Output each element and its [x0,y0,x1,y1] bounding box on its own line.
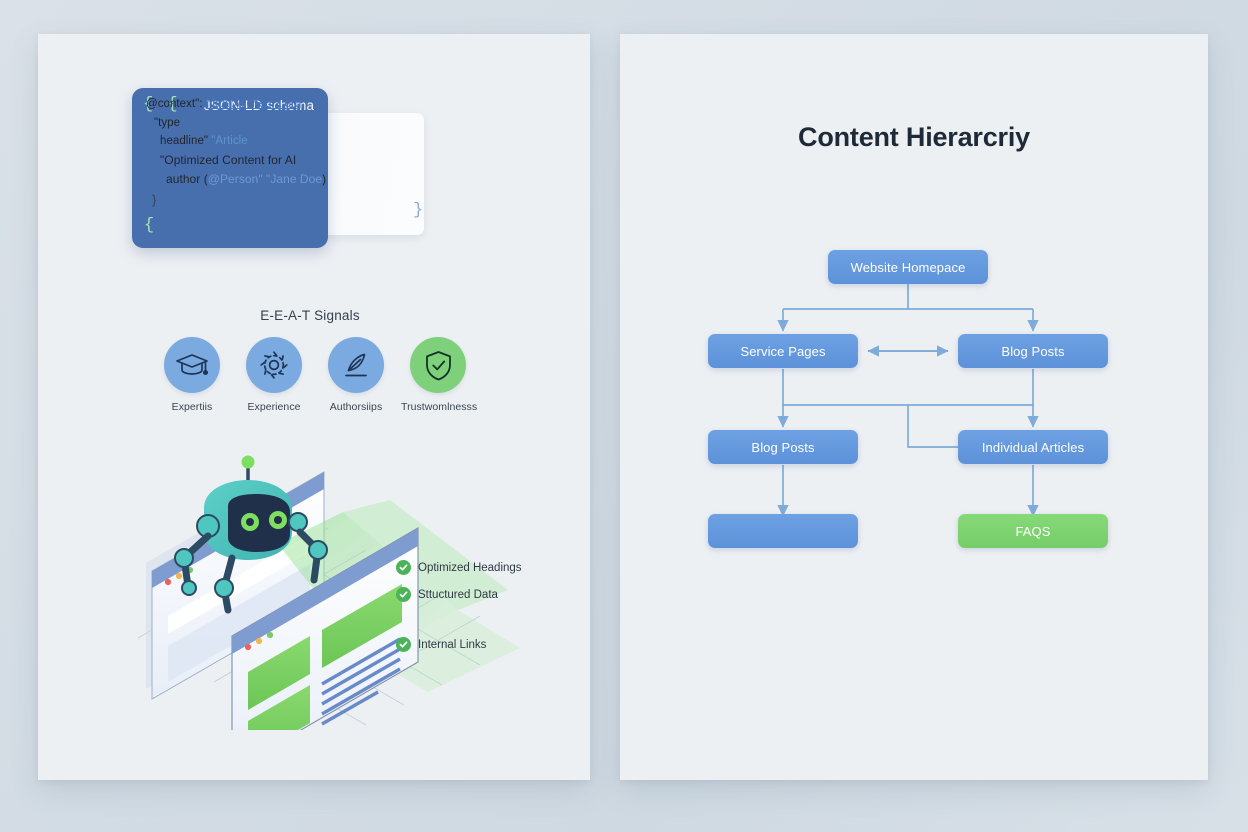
flowchart-connectors [620,34,1208,780]
checklist-label: Optimized Headings [418,562,522,574]
eeat-label-authorship: Authorsiips [319,401,393,413]
flow-node-label: Blog Posts [1001,344,1064,359]
code-line-headline: headline" "Article [160,135,248,147]
flow-node-website-homepage[interactable]: Website Homepace [828,250,988,284]
flow-node-blog-posts-top[interactable]: Blog Posts [958,334,1108,368]
content-hierarchy-flowchart: Website Homepace Service Pages Blog Post… [620,34,1208,780]
code-key-context: @context": [146,98,206,110]
eeat-label-expertise: Expertiis [155,401,229,413]
check-circle-icon [396,560,411,575]
flow-node-label: Service Pages [740,344,825,359]
ai-robot-illustration: Optimized Headings Sttuctured Data Inter… [128,440,548,730]
checklist-item-optimized-headings: Optimized Headings [396,560,522,575]
flow-node-label: Blog Posts [751,440,814,455]
eeat-item-expertise[interactable]: Expertiis [155,337,229,413]
eeat-signals-section: E-E-A-T Signals Expertiis E [155,308,485,413]
close-brace-icon: } [413,201,423,220]
isometric-robot-scene [128,440,548,730]
code-line-type: "type [154,117,180,129]
bottom-brace-icon: { [144,216,154,235]
eeat-label-trustworthiness: Trustwomlnesss [401,401,475,413]
code-line-headline-value: "Optimized Content for AI [160,153,296,167]
flow-node-faqs[interactable]: FAQS [958,514,1108,548]
flow-node-blog-posts-mid[interactable]: Blog Posts [708,430,858,464]
checklist-label: Sttuctured Data [418,589,498,601]
code-line-close: } [152,192,156,207]
graduation-cap-icon [164,337,220,393]
code-key-headline: headline" [160,135,211,147]
code-key-type: "type [154,117,180,129]
code-value-schema-url[interactable]: https://schema.org [206,98,302,110]
flow-node-label: Individual Articles [982,440,1084,455]
quill-pen-icon [328,337,384,393]
code-value-article: "Article [211,135,247,147]
eeat-section-title: E-E-A-T Signals [155,308,465,323]
flow-node-label: FAQS [1015,524,1050,539]
check-circle-icon [396,587,411,602]
code-key-author: author ( [166,172,208,186]
code-author-tail: ) [322,172,326,186]
gear-icon [246,337,302,393]
checklist-item-structured-data: Sttuctured Data [396,587,498,602]
flow-node-unlabeled[interactable] [708,514,858,548]
eeat-label-experience: Experience [237,401,311,413]
code-line-context: @context": https://schema.org [146,98,301,110]
eeat-items-row: Expertiis Experience Authorsiips [155,337,475,413]
eeat-item-experience[interactable]: Experience [237,337,311,413]
check-circle-icon [396,637,411,652]
code-value-optimized-content: "Optimized Content for AI [160,153,296,167]
shield-check-icon [410,337,466,393]
eeat-item-authorship[interactable]: Authorsiips [319,337,393,413]
code-close-brace: } [152,192,156,207]
eeat-item-trustworthiness[interactable]: Trustwomlnesss [401,337,475,413]
checklist-item-internal-links: Internal Links [396,637,486,652]
flow-node-label: Website Homepace [851,260,966,275]
code-value-person: @Person" "Jane Doe [208,172,322,186]
flow-node-service-pages[interactable]: Service Pages [708,334,858,368]
checklist-label: Internal Links [418,639,486,651]
code-line-author: author (@Person" "Jane Doe) [166,172,326,186]
flow-node-individual-articles[interactable]: Individual Articles [958,430,1108,464]
json-ld-schema-card: { { { } JSON-LD schema @context": https:… [132,88,432,258]
